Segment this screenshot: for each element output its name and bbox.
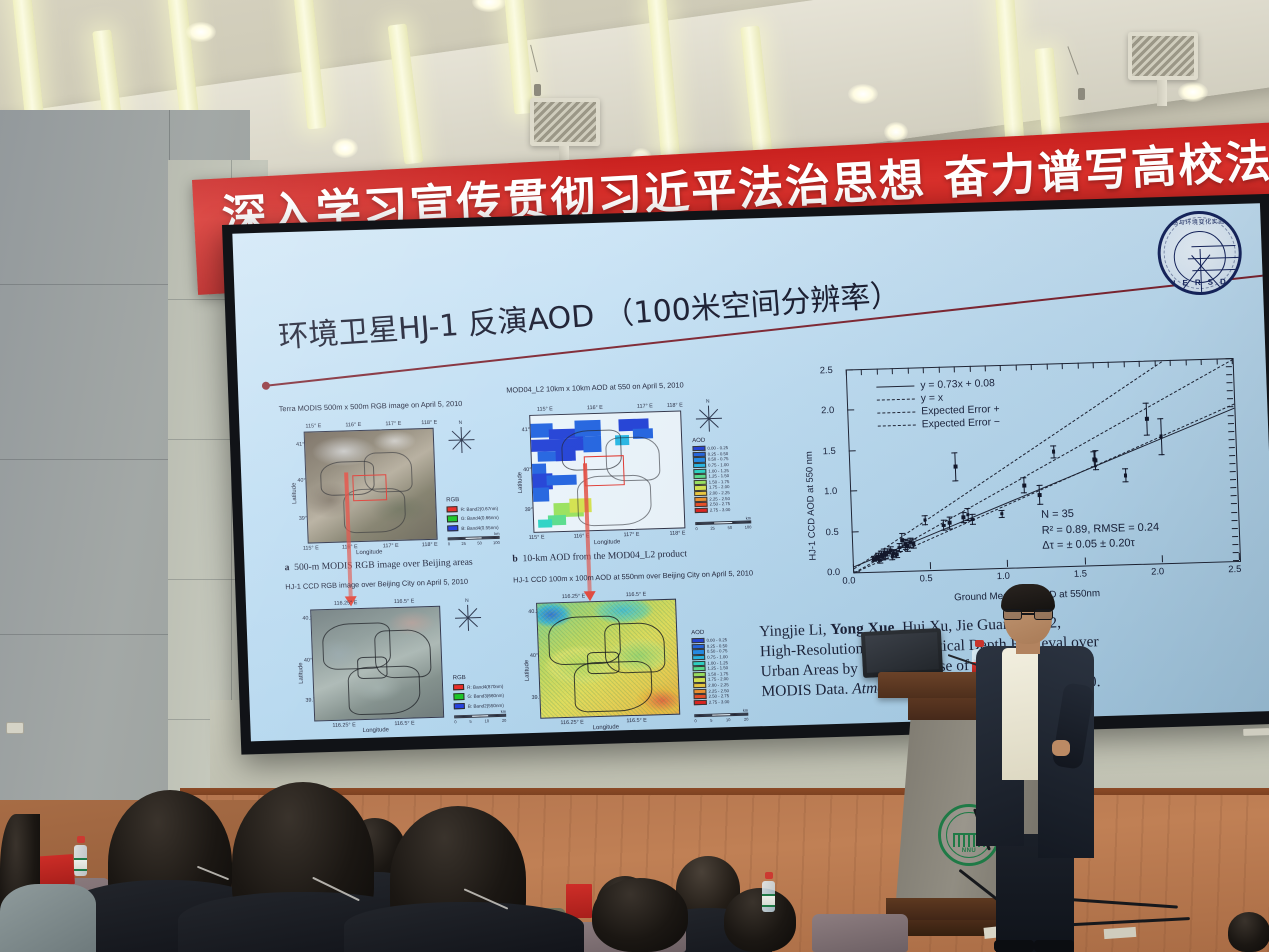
panel-c-xtick-bottom: 116.25° E — [332, 722, 356, 729]
panel-c-xtick: 116.5° E — [394, 598, 415, 605]
scatter-x-minor-tick — [1062, 363, 1063, 369]
auditorium-seat[interactable] — [812, 914, 908, 952]
scalebar-segment — [455, 716, 472, 718]
sprinkler-head — [1078, 88, 1085, 100]
aod-legend-swatch — [694, 700, 707, 706]
legend-label: R: Band2(0.67nm) — [460, 505, 498, 511]
scatter-data-point — [1022, 484, 1026, 488]
scatter-y-minor-tick — [1230, 479, 1236, 480]
legend-label: B: Band4(0.55nm) — [461, 524, 498, 530]
scatter-y-minor-tick — [1226, 366, 1232, 367]
scatter-y-tick-mark — [853, 571, 860, 572]
wall-panel-seam — [0, 285, 170, 460]
scatter-data-point — [911, 542, 915, 546]
panel-c-scalebar: km 0 5 10 20 — [454, 714, 506, 724]
legend-swatch-red — [446, 506, 457, 513]
scatter-x-minor-tick — [1170, 360, 1171, 366]
scatter-x-minor-tick — [1185, 359, 1186, 365]
legend-key-solid — [876, 386, 914, 388]
logo-chinese-text: 遥感与环境变化实验室 — [1159, 216, 1237, 227]
scalebar-segment — [713, 714, 730, 716]
scatter-y-minor-tick — [1228, 431, 1234, 432]
scatter-x-minor-tick — [1216, 359, 1217, 365]
scatter-y-axis-label: HJ-1 CCD AOD at 550 nm — [803, 451, 818, 561]
scatter-x-minor-tick — [907, 368, 908, 374]
scalebar-tick: 5 — [469, 719, 471, 724]
scalebar-tick: 50 — [477, 540, 482, 545]
panel-b-xtick: 117° E — [637, 403, 653, 409]
scatter-y-tick-label: 0.5 — [825, 525, 838, 536]
panel-d-map-image — [536, 599, 680, 719]
panel-d-caption-text: 100-m AOD retrieved from the HJ-1 CCD Da… — [529, 732, 712, 742]
panel-b-caption-tag: b — [512, 553, 518, 564]
panel-c-legend-title: RGB — [453, 674, 511, 682]
scatter-y-minor-tick — [1233, 552, 1239, 553]
scalebar-unit: km — [494, 531, 500, 536]
scatter-x-tick-label: 2.5 — [1228, 563, 1241, 574]
panel-b-x-axis-label: Longitude — [594, 539, 621, 546]
legend-key-dashed-plus — [877, 412, 915, 414]
scatter-x-minor-tick — [923, 367, 924, 373]
scalebar-segment — [696, 523, 714, 525]
scatter-x-tick-label: 0.0 — [842, 574, 855, 585]
scalebar-segment — [465, 537, 482, 539]
panel-b-scalebar: km 0 25 50 100 — [695, 520, 751, 531]
citation-source: MODIS Data. — [761, 681, 852, 701]
panel-d-xtick: 116.25° E — [562, 593, 586, 600]
scatter-y-tick-mark — [850, 490, 857, 491]
legend-label: y = 0.73x + 0.08 — [920, 378, 995, 391]
scatter-x-tick-label: 1.0 — [997, 570, 1010, 581]
aod-legend-row: 2.75 - 3.00 — [695, 506, 757, 513]
scatter-y-minor-tick — [1229, 463, 1235, 464]
scatter-y-minor-tick — [1228, 415, 1234, 416]
scatter-x-minor-tick — [877, 369, 878, 375]
scatter-y-minor-tick — [1227, 398, 1233, 399]
scatter-y-tick-mark — [852, 531, 859, 532]
validation-scatter-chart: HJ-1 CCD AOD at 550 nm Ground Measured A… — [798, 351, 1269, 615]
panel-a-y-axis-label: Latitude — [291, 483, 298, 505]
presenter-shoe — [1034, 940, 1074, 952]
scatter-x-minor-tick — [1093, 362, 1094, 368]
legend-key-dashdot — [877, 399, 915, 401]
scatter-x-minor-tick — [861, 369, 862, 375]
projection-screen-frame: 环境卫星HJ-1 反演AOD （100米空间分辨率） 遥感与环境变化实验室 I … — [222, 194, 1269, 755]
scatter-data-point — [1145, 417, 1149, 421]
scatter-y-minor-tick — [1231, 495, 1237, 496]
legend-row: G: Band4(0.66nm) — [447, 513, 505, 523]
scalebar-tick: 0 — [695, 526, 697, 531]
presenter-shoe — [994, 940, 1034, 952]
presenter-glasses — [1003, 609, 1053, 620]
panel-b-xtick: 115° E — [537, 406, 553, 412]
panel-b-y-axis-label: Latitude — [517, 472, 524, 494]
scatter-x-tick-mark — [853, 564, 854, 571]
scatter-x-minor-tick — [954, 366, 955, 372]
panel-a: Terra MODIS 500m x 500m RGB image on Apr… — [279, 398, 505, 573]
scatter-x-tick-mark — [1162, 555, 1163, 562]
panel-b-xtick-bottom: 115° E — [529, 535, 545, 541]
panel-a-map-image — [304, 428, 438, 544]
aod-cell — [546, 475, 576, 486]
scatter-data-point — [1159, 435, 1163, 439]
scatter-x-minor-tick — [1077, 363, 1078, 369]
scatter-data-point — [1052, 450, 1056, 454]
scatter-y-minor-tick — [1229, 439, 1235, 440]
legend-label: B: Band2(550nm) — [468, 702, 504, 708]
presenter-hair — [1001, 584, 1055, 612]
scatter-y-minor-tick — [1229, 447, 1235, 448]
scatter-y-minor-tick — [1231, 503, 1237, 504]
scalebar-segment — [695, 715, 712, 717]
globe-meridian — [1200, 249, 1203, 296]
ceiling-downlight — [884, 122, 908, 142]
panel-a-xtick-bottom: 118° E — [422, 542, 438, 548]
panel-d-y-axis-label: Latitude — [524, 660, 531, 682]
compass-rose-icon: N — [695, 405, 722, 432]
scalebar-segment — [732, 521, 750, 523]
panel-a-caption-tag: a — [284, 562, 289, 573]
scatter-data-point — [953, 465, 957, 469]
scatter-x-tick-mark — [1007, 560, 1008, 567]
panel-d-x-axis-label: Longitude — [593, 724, 620, 731]
panel-a-xtick: 116° E — [345, 422, 361, 428]
scalebar-tick: 25 — [710, 525, 715, 530]
panel-b-xtick-bottom: 117° E — [624, 532, 640, 538]
scatter-data-point — [962, 516, 966, 520]
scatter-x-tick-label: 1.5 — [1074, 567, 1087, 578]
scatter-y-minor-tick — [1226, 358, 1232, 359]
panel-d-xtick: 116.5° E — [626, 592, 647, 599]
scatter-data-point — [923, 518, 927, 522]
panel-b-map-image — [529, 410, 685, 532]
scalebar-tick: 10 — [484, 718, 489, 723]
panel-a-xtick: 115° E — [305, 423, 321, 429]
legend-label: G: Band4(0.66nm) — [461, 515, 499, 521]
scatter-x-minor-tick — [1108, 362, 1109, 368]
scatter-data-point — [948, 521, 952, 525]
legend-swatch-blue — [447, 525, 458, 532]
scatter-y-minor-tick — [1232, 536, 1238, 537]
panel-c-xtick-bottom: 116.5° E — [394, 720, 415, 727]
scatter-x-minor-tick — [1000, 365, 1001, 371]
scatter-x-minor-tick — [1046, 364, 1047, 370]
audience-arm — [0, 884, 96, 952]
aod-legend-label: 2.75 - 3.00 — [710, 507, 731, 513]
panel-b-caption-text: 10-km AOD from the MOD04_L2 product — [522, 548, 687, 564]
panel-d-xtick-bottom: 116.25° E — [560, 719, 584, 726]
scatter-data-point — [1038, 493, 1042, 497]
bottle-label — [762, 894, 775, 907]
scatter-x-minor-tick — [985, 365, 986, 371]
admin-boundary — [587, 651, 620, 674]
scatter-y-tick-label: 1.0 — [824, 485, 837, 496]
scatter-y-minor-tick — [1232, 544, 1238, 545]
aod-cell — [538, 519, 552, 527]
scatter-y-minor-tick — [1227, 407, 1233, 408]
scatter-data-point — [890, 555, 894, 559]
legend-swatch-green — [447, 515, 458, 522]
bottle-label — [74, 858, 87, 871]
scalebar-tick: 0 — [448, 541, 450, 546]
panel-a-x-axis-label: Longitude — [356, 549, 383, 556]
panel-a-xtick: 117° E — [385, 421, 401, 427]
compass-rose-icon: N — [448, 427, 475, 454]
scatter-data-point — [895, 552, 899, 556]
scatter-x-minor-tick — [969, 366, 970, 372]
aod-legend-rows: 0.00 - 0.250.25 - 0.500.50 - 0.750.75 - … — [692, 444, 756, 513]
desk-nameplate — [566, 884, 592, 918]
scatter-y-tick-label: 2.0 — [821, 404, 834, 415]
panel-a-rgb-legend: RGB R: Band2(0.67nm) G: Band4(0.66nm) B:… — [446, 496, 505, 534]
panel-b: MOD04_L2 10km x 10km AOD at 550 on April… — [506, 378, 762, 564]
scatter-y-tick-label: 0.0 — [827, 566, 840, 577]
scatter-x-tick-mark — [1239, 553, 1240, 560]
scalebar-unit: km — [501, 709, 507, 714]
scatter-y-tick-mark — [846, 369, 853, 370]
wall-panel-seam — [0, 460, 170, 635]
audience-head-front — [1228, 912, 1269, 952]
scalebar-tick: 0 — [694, 718, 696, 723]
panel-a-xtick-bottom: 117° E — [383, 543, 399, 549]
scatter-x-minor-tick — [1232, 358, 1233, 364]
scalebar-tick: 10 — [726, 717, 731, 722]
legend-swatch-green — [453, 693, 464, 700]
panel-d-scalebar: km 0 5 10 20 — [694, 713, 748, 723]
panel-a-roi-box — [352, 474, 387, 501]
scalebar-segment — [488, 715, 505, 717]
scatter-x-minor-tick — [1154, 360, 1155, 366]
panel-b-aod-legend: AOD 0.00 - 0.250.25 - 0.500.50 - 0.750.7… — [692, 436, 757, 513]
panel-c-caption-text: HJ-1 CCD RGB image over Beijing City — [300, 735, 458, 741]
scatter-x-minor-tick — [1031, 364, 1032, 370]
scatter-x-minor-tick — [938, 367, 939, 373]
scatter-x-tick-label: 0.5 — [919, 572, 932, 583]
panel-b-legend-title: AOD — [692, 436, 754, 444]
scatter-y-tick-label: 2.5 — [820, 364, 833, 375]
projection-screen: 环境卫星HJ-1 反演AOD （100米空间分辨率） 遥感与环境变化实验室 I … — [232, 203, 1269, 741]
ceiling-downlight — [332, 138, 358, 158]
scalebar-ticks: 0 5 10 20 — [454, 718, 506, 725]
panel-b-xtick: 116° E — [587, 405, 603, 411]
scatter-y-minor-tick — [1232, 528, 1238, 529]
scatter-x-minor-tick — [1015, 364, 1016, 370]
scalebar-tick: 20 — [502, 718, 507, 723]
bottle-cap — [765, 872, 773, 879]
audience-head-front — [592, 878, 688, 952]
panel-d-caption-tag: d — [519, 737, 525, 741]
audience-shoulder-front — [344, 902, 584, 952]
scalebar-ticks: 0 25 50 100 — [695, 524, 751, 531]
scatter-legend: y = 0.73x + 0.08 y = x Expected Error + … — [876, 377, 1000, 433]
globe-meridian — [1177, 254, 1210, 296]
scalebar-ticks: 0 5 10 20 — [694, 716, 748, 723]
aod-legend-swatch — [695, 507, 708, 513]
panel-d-xtick-bottom: 116.5° E — [626, 718, 647, 725]
ceiling-downlight — [1178, 82, 1208, 102]
compass-rose-icon: N — [454, 605, 481, 632]
legend-row: R: Band2(0.67nm) — [446, 504, 504, 514]
presenter-hand — [1052, 740, 1070, 756]
scatter-x-tick-mark — [930, 562, 931, 569]
iersd-logo: 遥感与环境变化实验室 I E R S D — [1156, 210, 1243, 296]
scatter-y-minor-tick — [1230, 487, 1236, 488]
scalebar-tick: 100 — [745, 524, 752, 529]
scatter-y-minor-tick — [1231, 520, 1237, 521]
panel-d: HJ-1 CCD 100m x 100m AOD at 550nm over B… — [513, 568, 769, 741]
scalebar-tick: 0 — [454, 719, 456, 724]
scatter-y-minor-tick — [1226, 374, 1232, 375]
scatter-x-tick-label: 2.0 — [1151, 565, 1164, 576]
panel-d-aod-legend: AOD 0.00 - 0.250.25 - 0.500.50 - 0.750.7… — [691, 628, 756, 705]
vent-stem — [1157, 80, 1167, 106]
scatter-y-tick-mark — [847, 410, 854, 411]
panel-c-x-axis-label: Longitude — [363, 727, 390, 734]
screen-brand-plate — [1243, 728, 1269, 736]
scalebar-tick: 20 — [744, 716, 749, 721]
scatter-data-point — [1094, 458, 1098, 462]
legend-label: G: Band3(660nm) — [467, 693, 504, 699]
panel-b-xtick-bottom: 118° E — [670, 530, 686, 536]
scalebar-unit: km — [743, 708, 749, 713]
panel-b-roi-box — [584, 455, 625, 486]
scatter-statistics-annotation: N = 35 R² = 0.89, RMSE = 0.24 Δτ = ± 0.0… — [1041, 504, 1160, 554]
panel-c-y-axis-label: Latitude — [298, 662, 305, 684]
legend-label: Expected Error − — [922, 417, 1001, 430]
scalebar-segment — [482, 537, 499, 539]
panel-a-scalebar: km 0 25 50 100 — [448, 536, 500, 546]
legend-label: Expected Error + — [921, 404, 1000, 417]
scatter-y-minor-tick — [1227, 390, 1233, 391]
audience-water-bottle[interactable] — [762, 872, 775, 912]
scatter-y-minor-tick — [1228, 423, 1234, 424]
scatter-data-point — [1000, 512, 1004, 516]
scatter-y-tick-mark — [849, 450, 856, 451]
panel-d-legend-title: AOD — [691, 628, 753, 636]
admin-boundary — [357, 656, 388, 679]
scatter-y-tick-label: 1.5 — [822, 445, 835, 456]
panel-a-xtick: 118° E — [421, 420, 437, 426]
legend-label: y = x — [921, 393, 944, 405]
scatter-y-minor-tick — [1231, 512, 1237, 513]
scalebar-tick: 100 — [493, 540, 500, 545]
compass-north-label: N — [465, 598, 469, 604]
scatter-y-minor-tick — [1230, 471, 1236, 472]
aod-legend-label: 2.75 - 3.00 — [709, 699, 730, 705]
audience-head — [724, 888, 796, 952]
scalebar-segment — [472, 715, 489, 717]
logo-abbr: I E R S D — [1162, 277, 1240, 288]
wall-panel-seam — [0, 110, 170, 285]
scalebar-tick: 25 — [461, 541, 466, 546]
ceiling-downlight — [848, 84, 878, 104]
lecture-hall-photo: 深入学习宣传贯彻习近平法治思想 奋力谱写高校法治建设新篇章 环境卫星HJ-1 反… — [0, 0, 1269, 952]
panel-c-rgb-legend: RGB R: Band4(870nm) G: Band3(660nm) B: B… — [453, 674, 512, 712]
panel-b-xtick: 118° E — [667, 402, 683, 408]
panel-a-legend-title: RGB — [446, 496, 504, 504]
scatter-data-point — [971, 518, 975, 522]
panel-c-caption-tag: c — [291, 740, 296, 741]
panel-b-caption: b 10-km AOD from the MOD04_L2 product — [512, 546, 762, 564]
panel-a-caption-text: 500-m MODIS RGB image over Beijing areas — [294, 557, 473, 573]
legend-swatch-blue — [454, 703, 465, 710]
ceiling-downlight — [186, 22, 216, 42]
legend-row: G: Band3(660nm) — [453, 691, 511, 701]
ceiling-air-vent — [1128, 32, 1198, 80]
scatter-data-point — [942, 523, 946, 527]
scatter-x-minor-tick — [1139, 361, 1140, 367]
scatter-y-minor-tick — [1229, 455, 1235, 456]
legend-row: R: Band4(870nm) — [453, 682, 511, 692]
scalebar-segment — [449, 538, 466, 540]
scatter-x-minor-tick — [1124, 361, 1125, 367]
panel-a-xtick-bottom: 115° E — [303, 545, 319, 551]
bottle-cap — [77, 836, 85, 843]
laptop[interactable] — [861, 628, 943, 678]
scalebar-ticks: 0 25 50 100 — [448, 540, 500, 547]
scalebar-unit: km — [746, 515, 752, 520]
scatter-x-tick-mark — [1084, 558, 1085, 565]
compass-north-label: N — [458, 420, 462, 426]
panel-a-caption: a 500-m MODIS RGB image over Beijing are… — [284, 556, 504, 574]
scatter-data-point — [1124, 474, 1128, 478]
wall-socket[interactable] — [6, 722, 24, 734]
aod-cell — [533, 487, 550, 501]
presenter — [972, 588, 1098, 952]
scatter-x-minor-tick — [892, 368, 893, 374]
legend-label: R: Band4(870nm) — [467, 683, 503, 689]
scalebar-tick: 5 — [710, 718, 712, 723]
scatter-y-minor-tick — [1233, 560, 1239, 561]
legend-key-dashed-minus — [878, 425, 916, 427]
compass-north-label: N — [706, 399, 710, 405]
legend-swatch-red — [453, 684, 464, 691]
scalebar-tick: 50 — [727, 525, 732, 530]
citation-author-first: Yingjie Li, — [759, 621, 831, 640]
panel-c: HJ-1 CCD RGB image over Beijing City on … — [285, 576, 511, 742]
aod-legend-rows: 0.00 - 0.250.25 - 0.500.50 - 0.750.75 - … — [691, 636, 755, 705]
scatter-x-minor-tick — [1201, 359, 1202, 365]
scalebar-segment — [730, 714, 747, 716]
sprinkler-head — [534, 84, 541, 96]
ceiling-air-vent — [530, 98, 600, 146]
panel-c-xtick: 116.25° E — [334, 600, 358, 607]
aod-legend-row: 2.75 - 3.00 — [694, 698, 756, 705]
audience-water-bottle[interactable] — [74, 836, 87, 876]
panel-c-map-image — [310, 606, 444, 722]
scalebar-segment — [714, 522, 732, 524]
scatter-y-minor-tick — [1226, 382, 1232, 383]
